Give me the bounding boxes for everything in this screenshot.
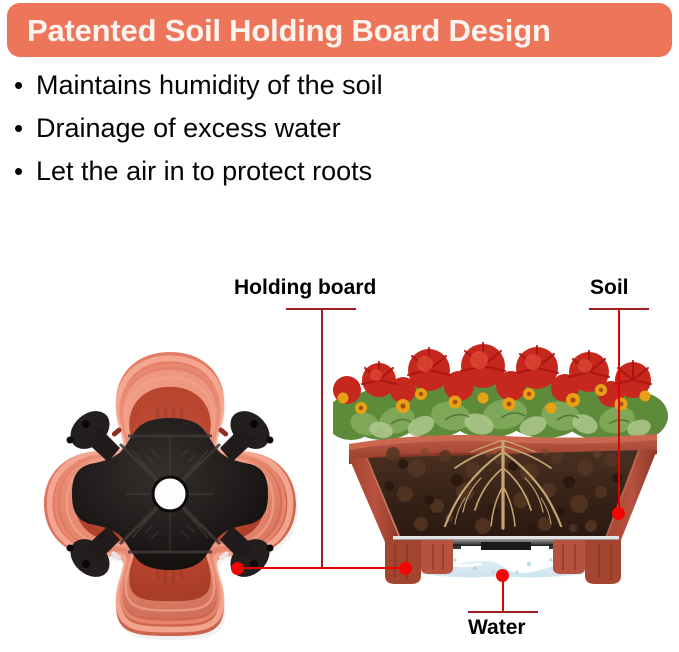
infographic-page: Patented Soil Holding Board Design • Mai… <box>0 0 679 652</box>
callout-label-soil: Soil <box>590 276 629 300</box>
marker-holding-board-right <box>399 562 412 575</box>
clover-planter-top-view-image <box>8 344 332 644</box>
feature-list: • Maintains humidity of the soil • Drain… <box>14 68 614 197</box>
planter-body <box>349 438 657 542</box>
leader-branch-left-holding-board <box>240 567 322 569</box>
leader-branch-right-holding-board <box>321 567 405 569</box>
feature-text: Drainage of excess water <box>36 111 341 145</box>
callout-label-water: Water <box>468 616 526 640</box>
bullet-icon: • <box>14 154 36 188</box>
marker-holding-board-left <box>231 562 244 575</box>
list-item: • Drainage of excess water <box>14 111 614 154</box>
page-title: Patented Soil Holding Board Design <box>27 15 551 46</box>
feature-text: Let the air in to protect roots <box>36 154 372 188</box>
leader-cap-water <box>468 611 538 613</box>
marker-water <box>496 569 509 582</box>
planter-cross-section-image <box>333 328 673 590</box>
cross-section-svg <box>333 328 673 590</box>
bullet-icon: • <box>14 68 36 102</box>
list-item: • Maintains humidity of the soil <box>14 68 614 111</box>
marker-soil <box>612 507 625 520</box>
callout-label-holding-board: Holding board <box>234 276 376 300</box>
leader-vertical-holding-board <box>321 308 323 568</box>
clover-planter-svg <box>8 344 332 644</box>
feature-text: Maintains humidity of the soil <box>36 68 383 102</box>
bullet-icon: • <box>14 111 36 145</box>
holding-board-shape <box>63 403 277 584</box>
product-diagram: Holding board Soil Water <box>0 258 679 652</box>
header-banner: Patented Soil Holding Board Design <box>7 3 672 57</box>
leader-vertical-soil <box>618 308 620 512</box>
list-item: • Let the air in to protect roots <box>14 154 614 197</box>
